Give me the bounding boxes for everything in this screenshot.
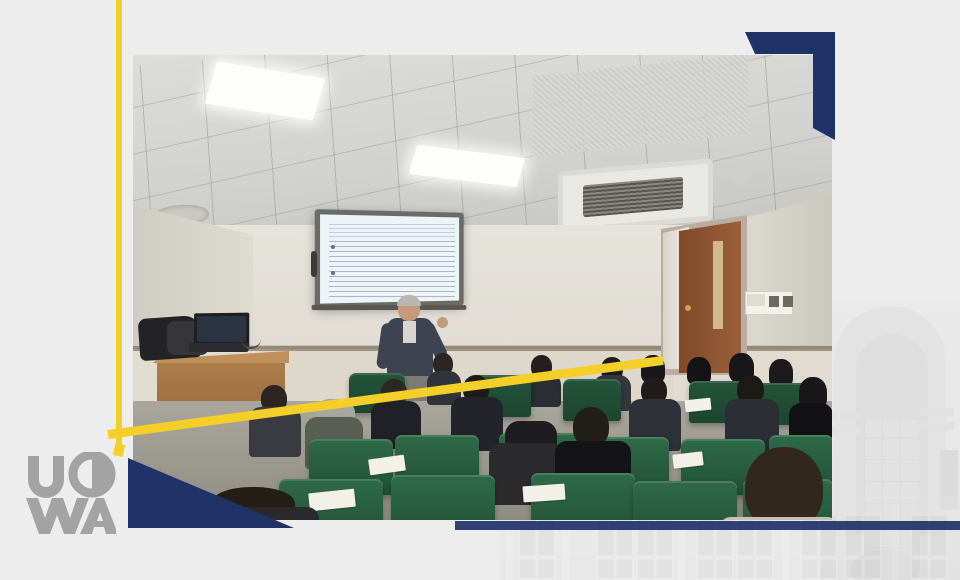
navy-bar-bottom-right bbox=[455, 521, 960, 530]
whiteboard-tray bbox=[312, 305, 467, 310]
slide-body-text bbox=[329, 241, 455, 297]
slide-bullet-marker bbox=[331, 245, 335, 249]
laptop-keyboard bbox=[188, 343, 250, 352]
arch-building-watermark bbox=[820, 300, 960, 580]
wooden-door bbox=[679, 221, 741, 373]
vertical-yellow-rule bbox=[116, 0, 122, 452]
light-switch bbox=[769, 296, 779, 307]
smoke-detector-icon bbox=[733, 173, 749, 183]
lecture-hall-photo bbox=[133, 55, 832, 520]
audience-body bbox=[719, 517, 832, 520]
navy-bracket-right-arm bbox=[813, 32, 835, 140]
uowa-logo bbox=[24, 452, 116, 536]
door-handle bbox=[685, 305, 691, 311]
handout-paper bbox=[522, 484, 565, 503]
audience-head bbox=[745, 447, 823, 520]
laptop-screen bbox=[197, 316, 246, 343]
slide-bullet-marker bbox=[331, 271, 335, 275]
wall-label bbox=[747, 294, 765, 306]
light-switch bbox=[783, 296, 793, 307]
whiteboard-marker bbox=[311, 251, 317, 277]
door-glass-panel bbox=[713, 241, 723, 329]
navy-bracket-top-right bbox=[745, 32, 835, 140]
presenter-hand bbox=[437, 317, 448, 328]
slide-header-text bbox=[329, 221, 455, 237]
image-canvas: UO WA bbox=[0, 0, 960, 580]
auditorium-chair bbox=[391, 475, 495, 520]
auditorium-chair bbox=[633, 481, 737, 520]
presenter-shirt bbox=[403, 321, 416, 343]
